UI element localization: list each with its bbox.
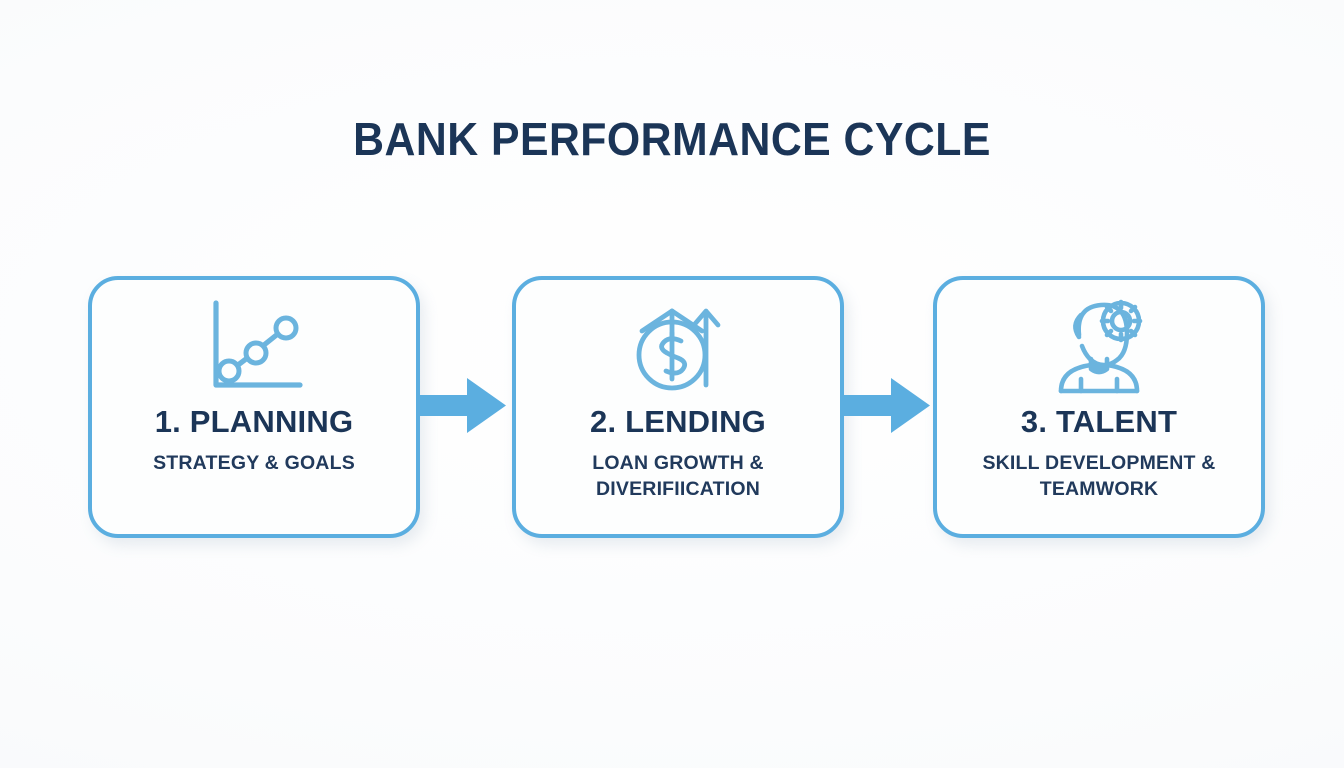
arrow-right-icon-2 <box>842 378 930 433</box>
process-flow-diagram: 1. PLANNING STRATEGY & GOALS 2. LENDING … <box>0 0 1344 768</box>
card-heading: 3. TALENT <box>937 404 1261 440</box>
arrow-right-icon-1 <box>418 378 506 433</box>
person-gear-head-icon <box>937 294 1261 398</box>
card-talent[interactable]: 3. TALENT SKILL DEVELOPMENT & TEAMWORK <box>933 276 1265 538</box>
card-subtitle: LOAN GROWTH & DIVERIFIICATION <box>530 450 826 502</box>
card-heading: 2. LENDING <box>516 404 840 440</box>
card-heading: 1. PLANNING <box>92 404 416 440</box>
line-chart-growth-icon <box>92 294 416 398</box>
card-subtitle: STRATEGY & GOALS <box>106 450 402 476</box>
dollar-coin-growth-arrow-icon <box>516 294 840 398</box>
card-planning[interactable]: 1. PLANNING STRATEGY & GOALS <box>88 276 420 538</box>
card-subtitle: SKILL DEVELOPMENT & TEAMWORK <box>951 450 1247 502</box>
card-lending[interactable]: 2. LENDING LOAN GROWTH & DIVERIFIICATION <box>512 276 844 538</box>
